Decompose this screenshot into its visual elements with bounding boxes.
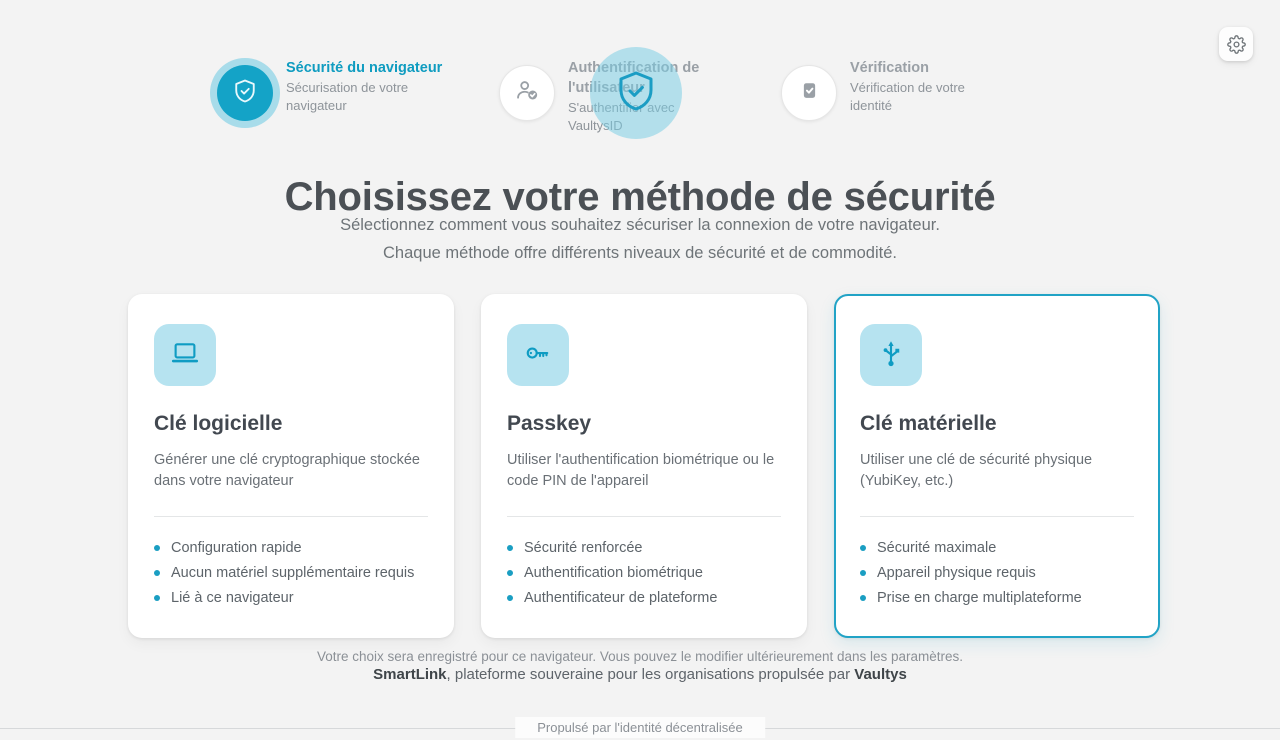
feature-label: Prise en charge multiplateforme <box>877 590 1082 606</box>
user-check-icon <box>514 77 541 109</box>
method-feature-list: Sécurité maximale Appareil physique requ… <box>860 535 1134 610</box>
page-subtitle-line-1: Sélectionnez comment vous souhaitez sécu… <box>0 211 1280 239</box>
step-verification[interactable]: Vérification Vérification de votre ident… <box>781 56 1063 121</box>
shield-check-icon <box>231 77 259 110</box>
page-subtitle-line-2: Chaque méthode offre différents niveaux … <box>0 239 1280 267</box>
list-item: Configuration rapide <box>154 535 428 560</box>
list-item: Authentificateur de plateforme <box>507 585 781 610</box>
divider <box>860 516 1134 517</box>
step-2-badge <box>499 65 555 121</box>
bullet-icon <box>507 545 513 551</box>
method-title: Passkey <box>507 412 781 436</box>
security-method-cards: Clé logicielle Générer une clé cryptogra… <box>128 294 1160 638</box>
step-browser-security[interactable]: Sécurité du navigateur Sécurisation de v… <box>217 56 499 121</box>
brand-middle-text: , plateforme souveraine pour les organis… <box>447 666 855 683</box>
bullet-icon <box>507 595 513 601</box>
footer-brandline: SmartLink, plateforme souveraine pour le… <box>0 666 1280 683</box>
method-card-software-key[interactable]: Clé logicielle Générer une clé cryptogra… <box>128 294 454 638</box>
bullet-icon <box>154 570 160 576</box>
brand-vaultys: Vaultys <box>854 666 907 683</box>
feature-label: Configuration rapide <box>171 540 302 556</box>
footer-divider: Propulsé par l'identité décentralisée <box>0 717 1280 740</box>
bullet-icon <box>507 570 513 576</box>
gear-icon <box>1227 35 1246 54</box>
bullet-icon <box>154 545 160 551</box>
list-item: Sécurité renforcée <box>507 535 781 560</box>
step-1-text: Sécurité du navigateur Sécurisation de v… <box>286 56 446 114</box>
divider <box>507 516 781 517</box>
step-3-title: Vérification <box>850 58 1010 78</box>
bullet-icon <box>154 595 160 601</box>
page-subtitle: Sélectionnez comment vous souhaitez sécu… <box>0 211 1280 268</box>
method-card-hardware-key[interactable]: Clé matérielle Utiliser une clé de sécur… <box>834 294 1160 638</box>
bullet-icon <box>860 570 866 576</box>
step-2-title: Authentification de l'utilisateur <box>568 58 728 98</box>
divider <box>154 516 428 517</box>
checkbox-check-icon <box>796 77 823 109</box>
key-icon <box>523 338 553 373</box>
bullet-icon <box>860 545 866 551</box>
step-3-subtitle: Vérification de votre identité <box>850 79 1010 114</box>
usb-icon <box>876 338 906 373</box>
list-item: Appareil physique requis <box>860 560 1134 585</box>
list-item: Authentification biométrique <box>507 560 781 585</box>
step-2-text: Authentification de l'utilisateur S'auth… <box>568 56 728 134</box>
laptop-icon <box>170 338 200 373</box>
step-1-title: Sécurité du navigateur <box>286 58 446 78</box>
footer-note: Votre choix sera enregistré pour ce navi… <box>0 647 1280 667</box>
step-1-subtitle: Sécurisation de votre navigateur <box>286 79 446 114</box>
method-description: Utiliser l'authentification biométrique … <box>507 450 781 492</box>
feature-label: Authentification biométrique <box>524 565 703 581</box>
method-card-passkey[interactable]: Passkey Utiliser l'authentification biom… <box>481 294 807 638</box>
progress-steps: Sécurité du navigateur Sécurisation de v… <box>0 56 1280 134</box>
feature-label: Aucun matériel supplémentaire requis <box>171 565 414 581</box>
feature-label: Sécurité maximale <box>877 540 996 556</box>
feature-label: Sécurité renforcée <box>524 540 642 556</box>
method-title: Clé logicielle <box>154 412 428 436</box>
step-user-authentication[interactable]: Authentification de l'utilisateur S'auth… <box>499 56 781 134</box>
feature-label: Appareil physique requis <box>877 565 1036 581</box>
method-icon-tile <box>507 324 569 386</box>
method-feature-list: Sécurité renforcée Authentification biom… <box>507 535 781 610</box>
method-feature-list: Configuration rapide Aucun matériel supp… <box>154 535 428 610</box>
step-2-subtitle: S'authentifier avec VaultysID <box>568 99 728 134</box>
feature-label: Authentificateur de plateforme <box>524 590 717 606</box>
brand-smartlink: SmartLink <box>373 666 446 683</box>
method-icon-tile <box>860 324 922 386</box>
bullet-icon <box>860 595 866 601</box>
list-item: Prise en charge multiplateforme <box>860 585 1134 610</box>
method-description: Générer une clé cryptographique stockée … <box>154 450 428 492</box>
method-description: Utiliser une clé de sécurité physique (Y… <box>860 450 1134 492</box>
method-icon-tile <box>154 324 216 386</box>
feature-label: Lié à ce navigateur <box>171 590 294 606</box>
step-3-badge <box>781 65 837 121</box>
step-1-badge <box>217 65 273 121</box>
list-item: Aucun matériel supplémentaire requis <box>154 560 428 585</box>
method-title: Clé matérielle <box>860 412 1134 436</box>
list-item: Sécurité maximale <box>860 535 1134 560</box>
footer-badge: Propulsé par l'identité décentralisée <box>515 717 765 738</box>
step-3-text: Vérification Vérification de votre ident… <box>850 56 1010 114</box>
list-item: Lié à ce navigateur <box>154 585 428 610</box>
